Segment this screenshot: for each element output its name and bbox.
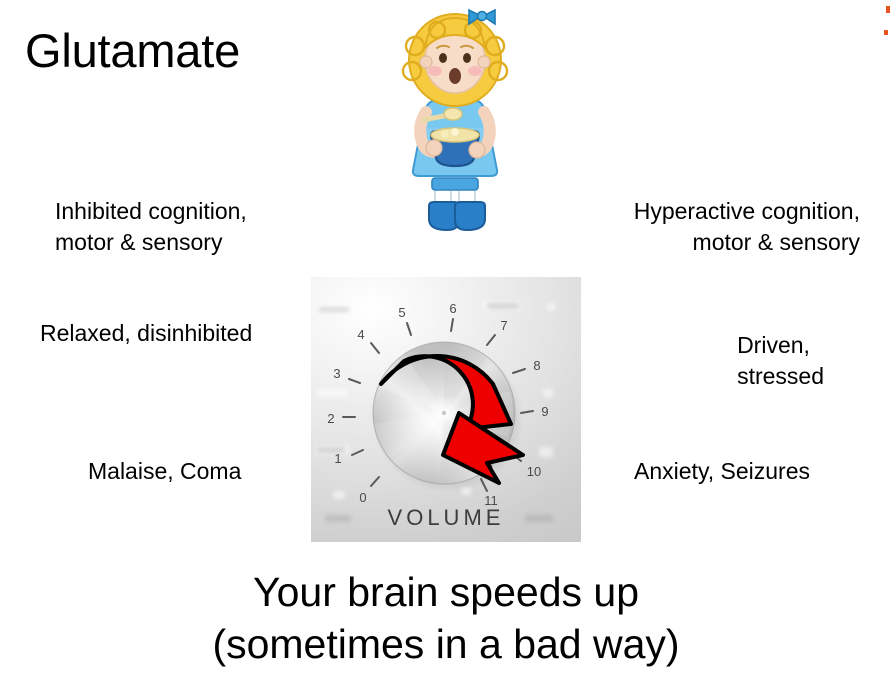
caption-inhibited-line2: motor & sensory	[55, 227, 247, 258]
caption-hyperactive-line1: Hyperactive cognition,	[634, 196, 860, 227]
caption-driven-line2: stressed	[737, 361, 824, 392]
caption-driven-line1: Driven,	[737, 330, 824, 361]
knob-tick-label-4: 4	[357, 327, 364, 342]
page-title: Glutamate	[25, 26, 240, 75]
caption-inhibited: Inhibited cognition, motor & sensory	[55, 196, 247, 257]
caption-hyperactive: Hyperactive cognition, motor & sensory	[634, 196, 860, 257]
knob-hub-center	[442, 411, 446, 415]
caption-anxiety: Anxiety, Seizures	[634, 456, 810, 487]
bottom-headline-line2: (sometimes in a bad way)	[0, 620, 892, 668]
caption-inhibited-line1: Inhibited cognition,	[55, 196, 247, 227]
knob-tick-label-6: 6	[449, 301, 456, 316]
caption-malaise-line1: Malaise, Coma	[88, 456, 241, 487]
caption-driven: Driven, stressed	[737, 330, 824, 391]
caption-malaise: Malaise, Coma	[88, 456, 241, 487]
caption-hyperactive-line2: motor & sensory	[634, 227, 860, 258]
knob-tick-label-7: 7	[500, 318, 507, 333]
volume-knob-image: 0 1 2 3 4 5 6 7 8 9 10 11 VOLUME	[311, 277, 581, 542]
girl-clipart	[385, 8, 525, 248]
caption-anxiety-line1: Anxiety, Seizures	[634, 456, 810, 487]
knob-tick-label-0: 0	[359, 490, 366, 505]
volume-knob-svg: 0 1 2 3 4 5 6 7 8 9 10 11 VOLUME	[311, 277, 581, 542]
knob-tick-label-2: 2	[327, 411, 334, 426]
caption-relaxed: Relaxed, disinhibited	[40, 318, 252, 349]
knob-tick-label-3: 3	[333, 366, 340, 381]
volume-label: VOLUME	[388, 505, 505, 530]
knob-tick-label-10: 10	[527, 464, 541, 479]
edge-artifact-mark	[884, 30, 888, 35]
bottom-headline-line1: Your brain speeds up	[0, 568, 892, 616]
knob-tick-label-8: 8	[533, 358, 540, 373]
slide-canvas: Glutamate	[0, 0, 892, 695]
girl-illustration-svg	[385, 8, 525, 248]
caption-relaxed-line1: Relaxed, disinhibited	[40, 318, 252, 349]
knob-tick-label-1: 1	[334, 451, 341, 466]
knob-tick-label-5: 5	[398, 305, 405, 320]
knob-tick-label-9: 9	[541, 404, 548, 419]
edge-artifact-mark	[886, 6, 890, 13]
